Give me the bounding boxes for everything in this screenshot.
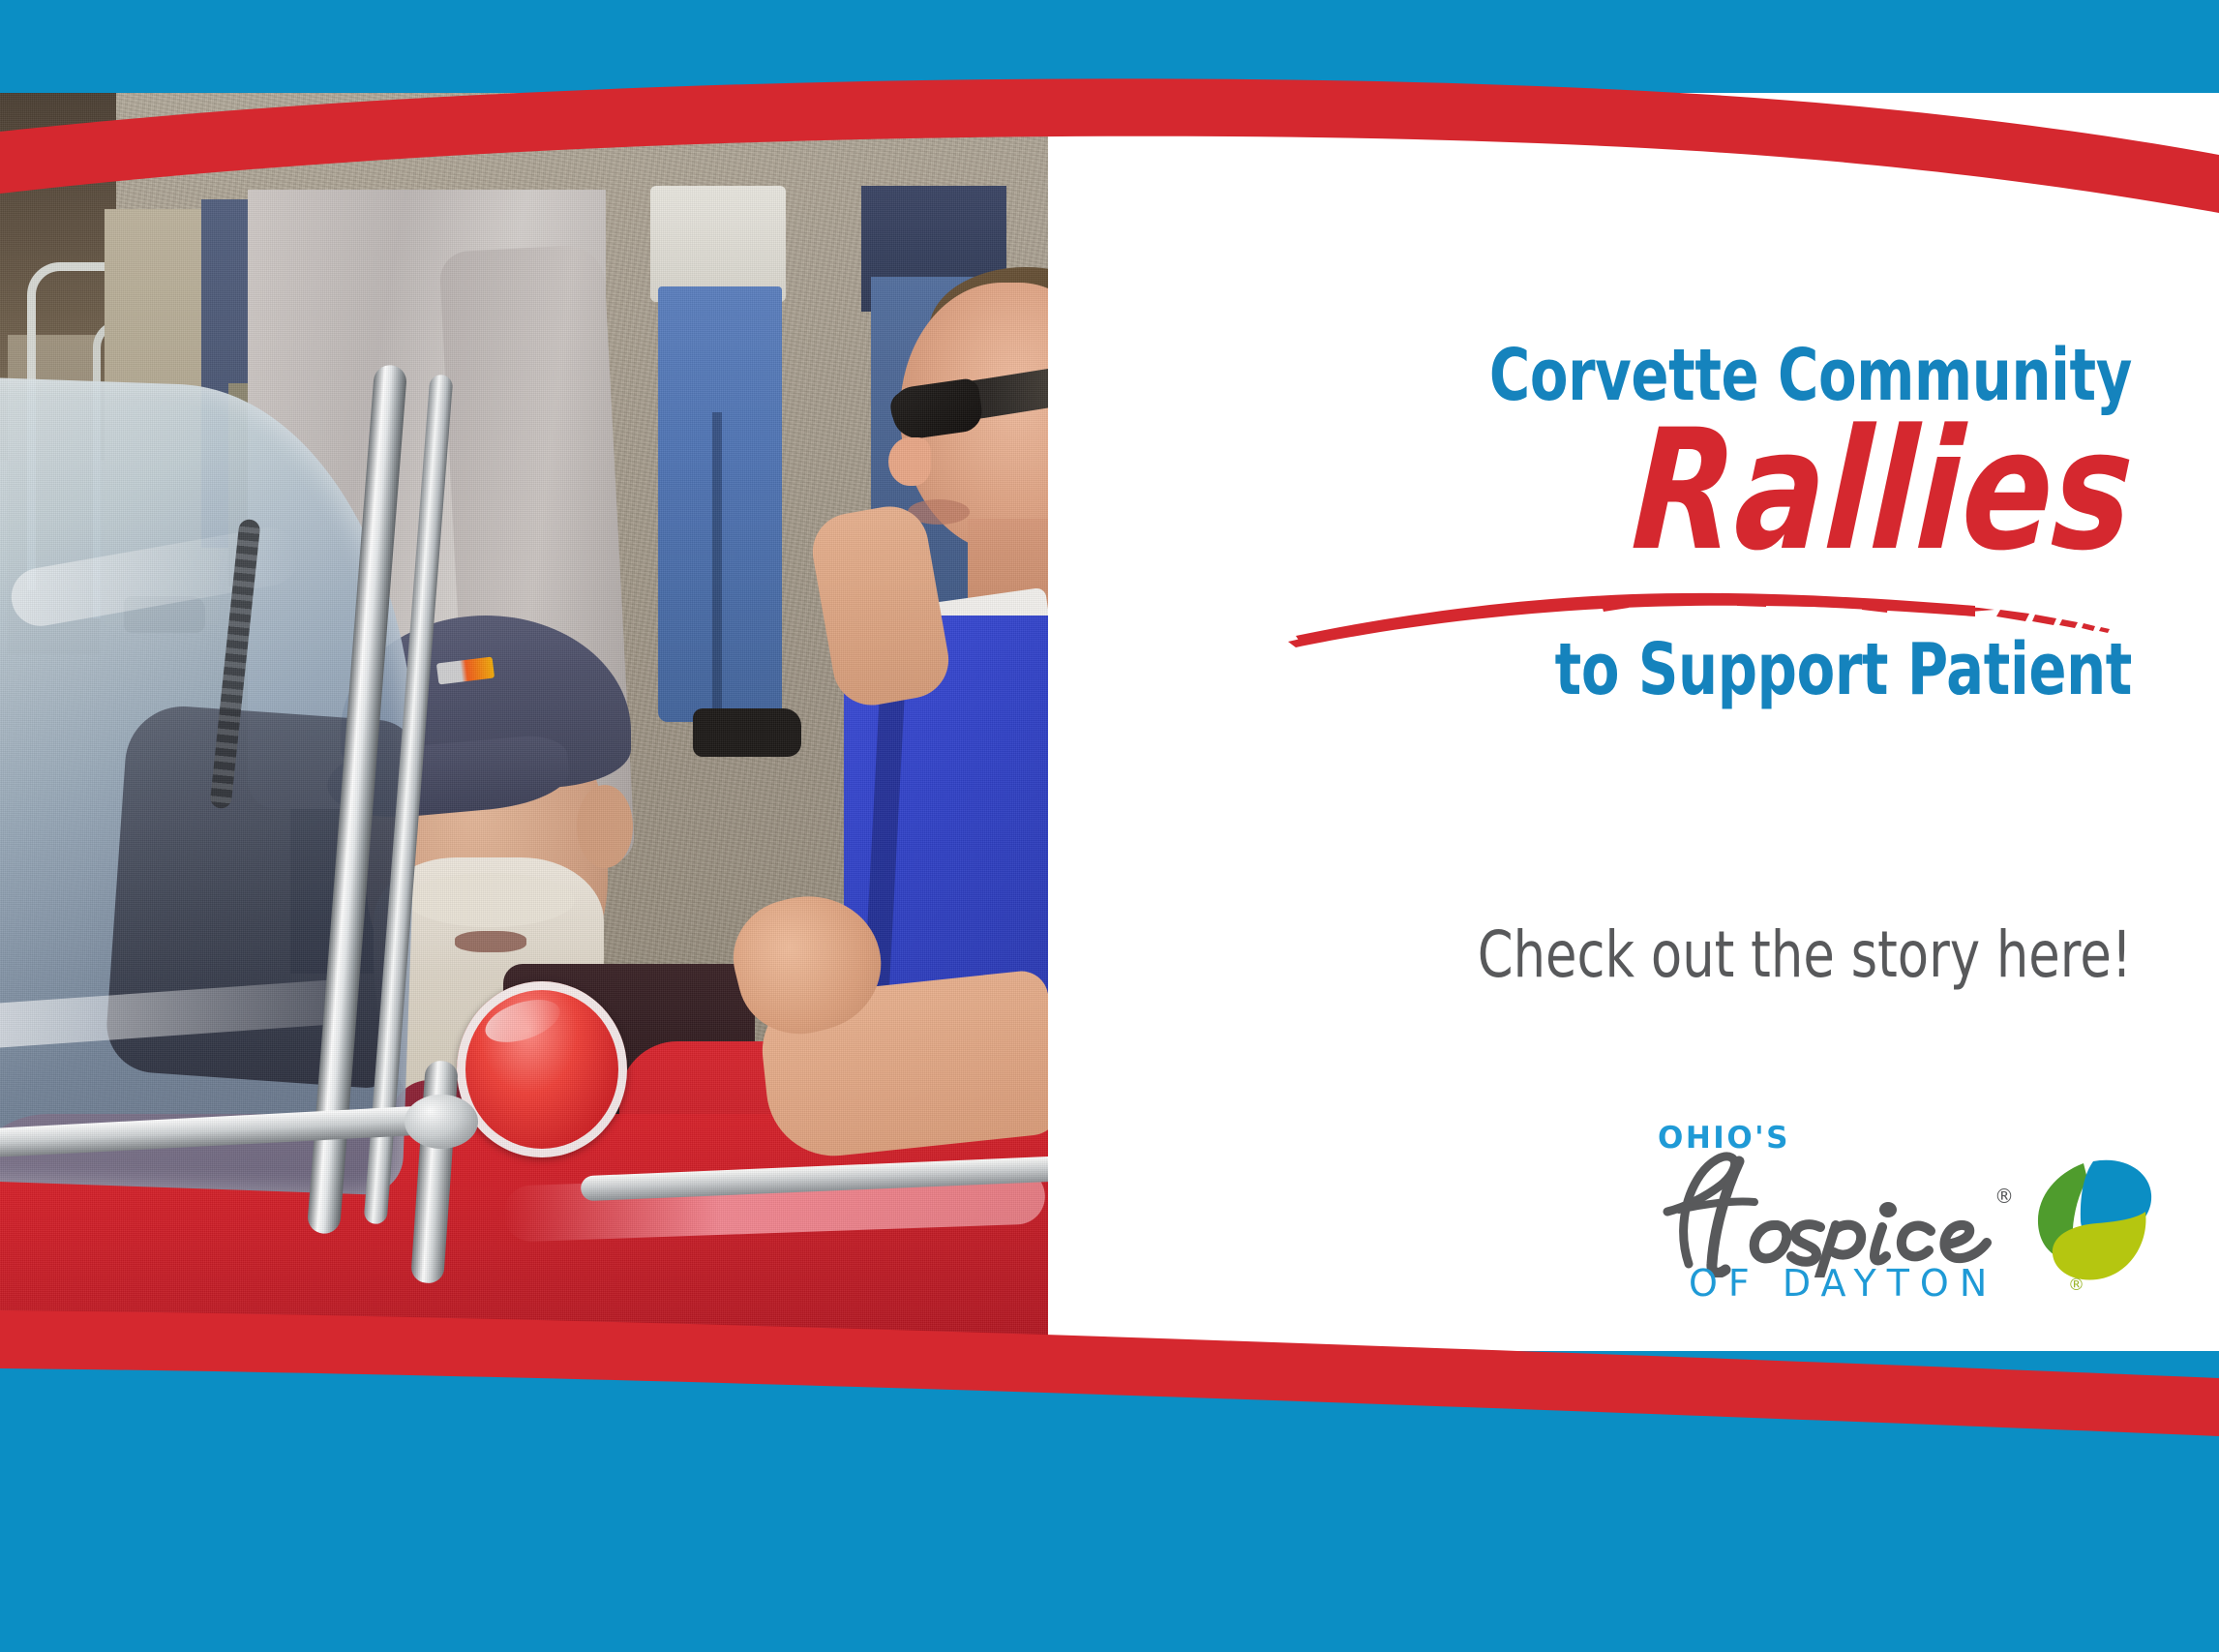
- photo-crowd-jeans-shadow: [712, 412, 722, 722]
- photo-elderly-man-ear: [577, 785, 633, 868]
- headline-rallies-wrap: Rallies: [1048, 413, 2132, 607]
- photo-mirror-joint: [405, 1095, 478, 1149]
- photo-elderly-man-moustache: [406, 873, 575, 927]
- message-panel: Corvette Community Rallies: [1048, 93, 2219, 1351]
- event-photo: [0, 93, 1048, 1351]
- headline-line-3: to Support Patient: [1286, 634, 2132, 706]
- banner-card: Corvette Community Rallies: [0, 93, 2219, 1351]
- promo-graphic: Corvette Community Rallies: [0, 0, 2219, 1652]
- photo-crowd-white-shirt: [650, 186, 786, 302]
- photo-crowd-black-shoe: [693, 708, 801, 757]
- logo-of-dayton-text: OF DAYTON: [1689, 1262, 1997, 1305]
- background-blue-bottom: [0, 1336, 2219, 1652]
- photo-driver-nose: [888, 437, 931, 486]
- registered-trademark-icon-leaf: ®: [2068, 1276, 2084, 1295]
- logo-hospice-script: [1650, 1142, 2037, 1277]
- headline-block: Corvette Community Rallies: [1048, 340, 2132, 706]
- photo-elderly-man-mouth: [455, 931, 526, 952]
- registered-trademark-icon-script: ®: [1994, 1185, 2014, 1208]
- hospice-of-dayton-logo[interactable]: OHIO'S: [1650, 1099, 2134, 1307]
- headline-rallies: Rallies: [1629, 407, 2137, 574]
- three-leaf-mark-icon: [2027, 1150, 2155, 1285]
- cta-text[interactable]: Check out the story here!: [1265, 923, 2132, 987]
